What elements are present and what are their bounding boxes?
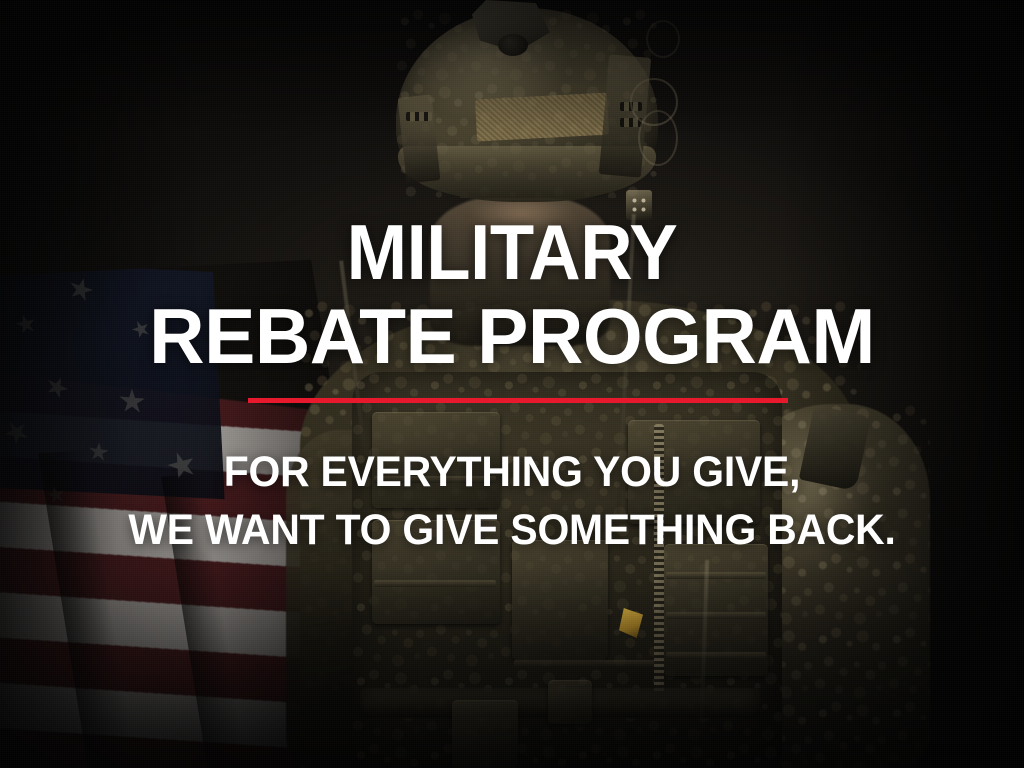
headline-line-2: REBATE PROGRAM: [8, 298, 1017, 374]
red-divider-rule: [248, 398, 788, 403]
headline-line-1: MILITARY: [36, 214, 988, 290]
slide-canvas: MILITARY REBATE PROGRAM FOR EVERYTHING Y…: [0, 0, 1024, 768]
subheadline-line-2: WE WANT TO GIVE SOMETHING BACK.: [26, 501, 999, 559]
subheadline-line-1: FOR EVERYTHING YOU GIVE,: [26, 443, 999, 501]
text-overlay: MILITARY REBATE PROGRAM FOR EVERYTHING Y…: [0, 0, 1024, 768]
